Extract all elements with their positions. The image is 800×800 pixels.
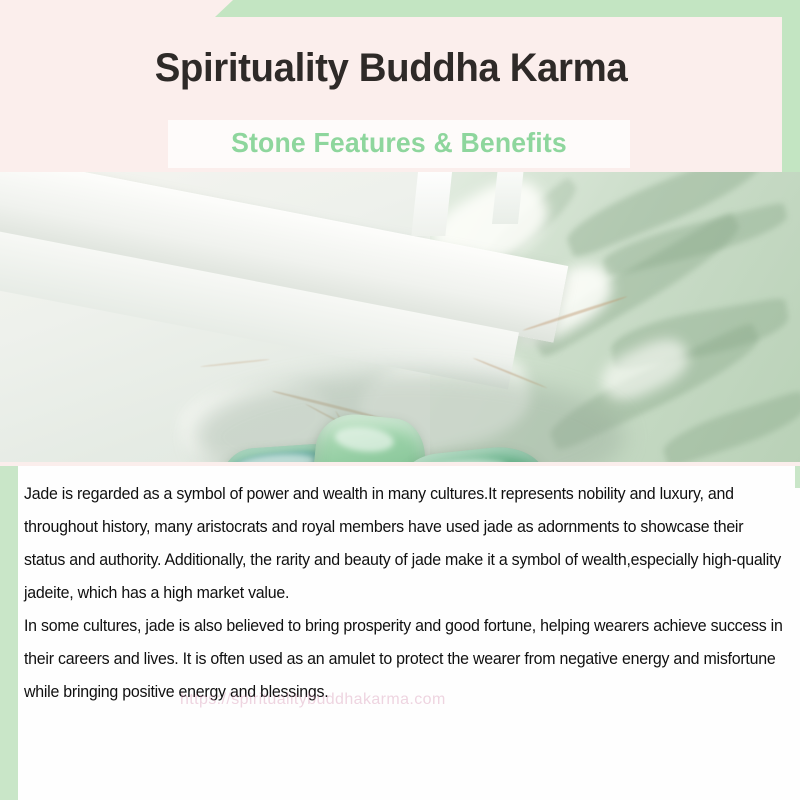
infographic-page: Spirituality Buddha Karma Stone Features… xyxy=(0,0,800,800)
body-left-accent-strip xyxy=(0,466,18,800)
stone-highlight xyxy=(333,424,395,454)
body-paragraph-2: In some cultures, jade is also believed … xyxy=(24,610,784,709)
body-copy: Jade is regarded as a symbol of power an… xyxy=(24,478,784,709)
header-green-accent-top xyxy=(215,0,800,17)
body-section: Jade is regarded as a symbol of power an… xyxy=(0,466,800,800)
body-paragraph-1: Jade is regarded as a symbol of power an… xyxy=(24,478,784,610)
header-section: Spirituality Buddha Karma Stone Features… xyxy=(0,0,800,175)
hero-photo: Jade Jade xyxy=(0,172,800,467)
body-right-accent-strip xyxy=(795,466,800,488)
subtitle-band: Stone Features & Benefits xyxy=(168,120,630,168)
jade-stones-photo: Jade Jade xyxy=(0,172,800,467)
page-subtitle: Stone Features & Benefits xyxy=(180,120,619,168)
page-title: Spirituality Buddha Karma xyxy=(16,44,767,92)
header-green-accent-right xyxy=(782,0,800,175)
